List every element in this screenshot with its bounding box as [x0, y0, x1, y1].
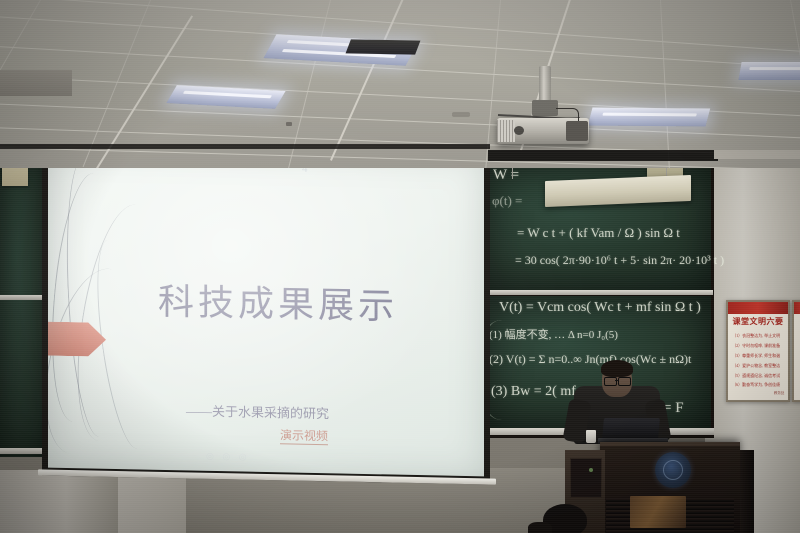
projector-vent — [497, 120, 515, 142]
projector-mount — [532, 100, 558, 116]
poster-line-4: （4）爱护公物念, 教室整洁 — [732, 363, 785, 369]
chalkboard-left-bottom-rail — [0, 448, 44, 454]
presenter-glasses-bridge — [615, 380, 618, 381]
chalkboard-left-rail — [0, 295, 46, 300]
chalkboard-middle-rail — [485, 290, 713, 295]
ceiling-sensor — [286, 122, 292, 126]
slide-subtitle: ——关于水果采摘的研究 — [186, 400, 329, 422]
podium-decal — [630, 496, 686, 528]
podium-top-edge — [600, 442, 740, 446]
chalkboard-left — [0, 152, 48, 457]
ceiling-vent-small — [452, 112, 470, 117]
ceiling — [0, 0, 800, 168]
poster-line-1: （1）衣冠整洁为, 举止文明 — [732, 333, 785, 339]
chalk-line-l4: (3) Bw = 2( mf — [491, 384, 576, 400]
chalk-line-u4: = 30 cos( 2π·90·10⁶ t + 5· sin 2π· 20·10… — [515, 253, 724, 268]
chalk-line-u3: = W c t + ( kf Vam / Ω ) sin Ω t — [517, 225, 680, 241]
poster-line-5: （5）遵规遵纪念, 诚信考试 — [732, 373, 785, 379]
poster-line-3: （3）尊重师长学, 师生和谐 — [732, 353, 785, 359]
presenter-hair — [601, 360, 633, 377]
projector-cable — [556, 108, 579, 121]
chalk-line-l3: (2) V(t) = Σ n=0..∞ Jn(mf) cos(Wc ± nΩ)t — [489, 352, 691, 367]
poster-line-2: （2）守时勿喧哗, 课前准备 — [732, 343, 785, 349]
projector-lens — [514, 126, 524, 135]
presenter-laptop-lid — [602, 418, 660, 440]
projector-rear — [566, 121, 588, 141]
wall-trim-board-top — [488, 150, 718, 161]
slide-title: 科技成果展示 — [158, 273, 398, 330]
projector-pole — [539, 66, 551, 104]
chalk-line-u2: φ(t) = — [492, 193, 522, 209]
wall-trim-left — [0, 144, 490, 149]
poster-title: 课堂文明六要 — [728, 316, 788, 327]
presenter-glasses-left — [604, 377, 617, 386]
poster-line-6: （6）勤奋笃学为, 争创佳绩 — [732, 382, 785, 388]
podium-right-edge — [740, 450, 754, 533]
wall-trim-right — [714, 150, 800, 159]
podium-emblem — [655, 452, 691, 488]
paper-cup — [586, 430, 596, 443]
ceiling-ac-unit — [0, 70, 72, 96]
student-shoulder — [528, 522, 552, 533]
poster-secondary — [792, 300, 800, 402]
classroom-photo-scene: W = φ(t) = = W c t + ( kf Vam / Ω ) sin … — [0, 0, 800, 533]
chalk-line-l1: V(t) = Vcm cos( Wc t + mf sin Ω t ) — [499, 300, 701, 316]
chalk-line-l2: (1) 幅度不变, … Δ n=0 J₀(5) — [489, 326, 618, 342]
slide-watermark: ◎ ◎ ◎ — [206, 451, 250, 463]
poster-classroom-rules: 课堂文明六要 （1）衣冠整洁为, 举止文明 （2）守时勿喧哗, 课前准备 （3）… — [726, 300, 790, 402]
ceiling-light-3-off — [346, 39, 421, 54]
ceiling-cable-2 — [330, 0, 413, 161]
screen-surface: 4 科技成果展示 ——关于水果采摘的研究 演示视频 ◎ ◎ ◎ — [48, 146, 484, 477]
poster-header-band — [728, 302, 788, 314]
slide-hyperlink[interactable]: 演示视频 — [280, 426, 328, 445]
podium-side-door — [570, 458, 602, 498]
presenter-glasses-right — [618, 377, 631, 386]
poster-footer: 教务处 — [774, 391, 785, 396]
ceiling-light-4 — [588, 107, 710, 126]
ceiling-light-5 — [738, 62, 800, 80]
wall-pillar-left — [0, 470, 120, 533]
podium-indicator-light — [589, 468, 593, 472]
wall-pillar-mid — [118, 470, 188, 533]
chalk-line-u1: W = — [493, 167, 519, 184]
poster-secondary-band — [794, 302, 800, 314]
